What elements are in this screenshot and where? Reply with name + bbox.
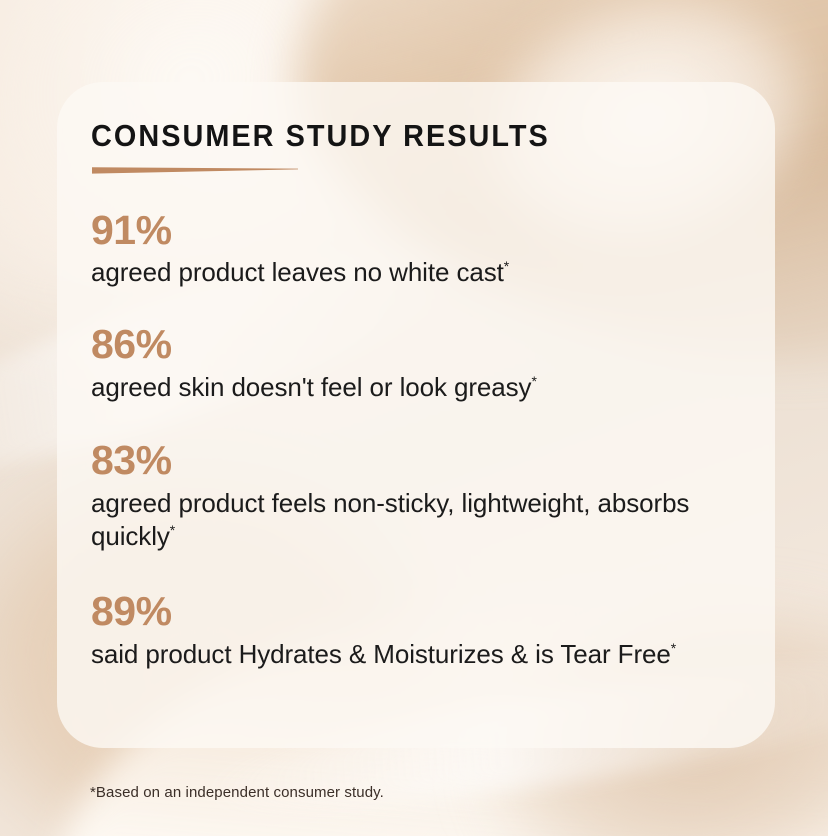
page-title: CONSUMER STUDY RESULTS [91,120,703,151]
stat-description: agreed skin doesn't feel or look greasy* [91,371,749,404]
stat-description: agreed product leaves no white cast* [91,256,749,289]
footnote-asterisk: * [170,522,175,538]
stat-item: 83% agreed product feels non-sticky, lig… [91,439,749,552]
stat-item: 86% agreed skin doesn't feel or look gre… [91,323,749,403]
stat-item: 89% said product Hydrates & Moisturizes … [91,590,749,670]
title-underline-icon [92,165,298,175]
stat-description-text: said product Hydrates & Moisturizes & is… [91,639,671,669]
stat-value: 83% [91,439,749,482]
footnote-asterisk: * [531,373,536,389]
stat-value: 91% [91,209,749,252]
stats-list: 91% agreed product leaves no white cast*… [91,209,749,671]
consumer-study-card: CONSUMER STUDY RESULTS 91% agreed produc… [57,82,775,748]
stat-value: 86% [91,323,749,366]
stat-description: said product Hydrates & Moisturizes & is… [91,638,749,671]
stat-description: agreed product feels non-sticky, lightwe… [91,487,749,553]
stat-description-text: agreed product leaves no white cast [91,257,504,287]
footnote-disclaimer: *Based on an independent consumer study. [90,784,384,801]
stat-item: 91% agreed product leaves no white cast* [91,209,749,289]
stat-value: 89% [91,590,749,633]
page-root: CONSUMER STUDY RESULTS 91% agreed produc… [0,0,828,836]
stat-description-text: agreed product feels non-sticky, lightwe… [91,488,689,551]
footnote-asterisk: * [504,258,509,274]
stat-description-text: agreed skin doesn't feel or look greasy [91,372,531,402]
title-underline-wedge [92,165,298,175]
footnote-asterisk: * [671,640,676,656]
card-content: CONSUMER STUDY RESULTS 91% agreed produc… [91,120,749,671]
